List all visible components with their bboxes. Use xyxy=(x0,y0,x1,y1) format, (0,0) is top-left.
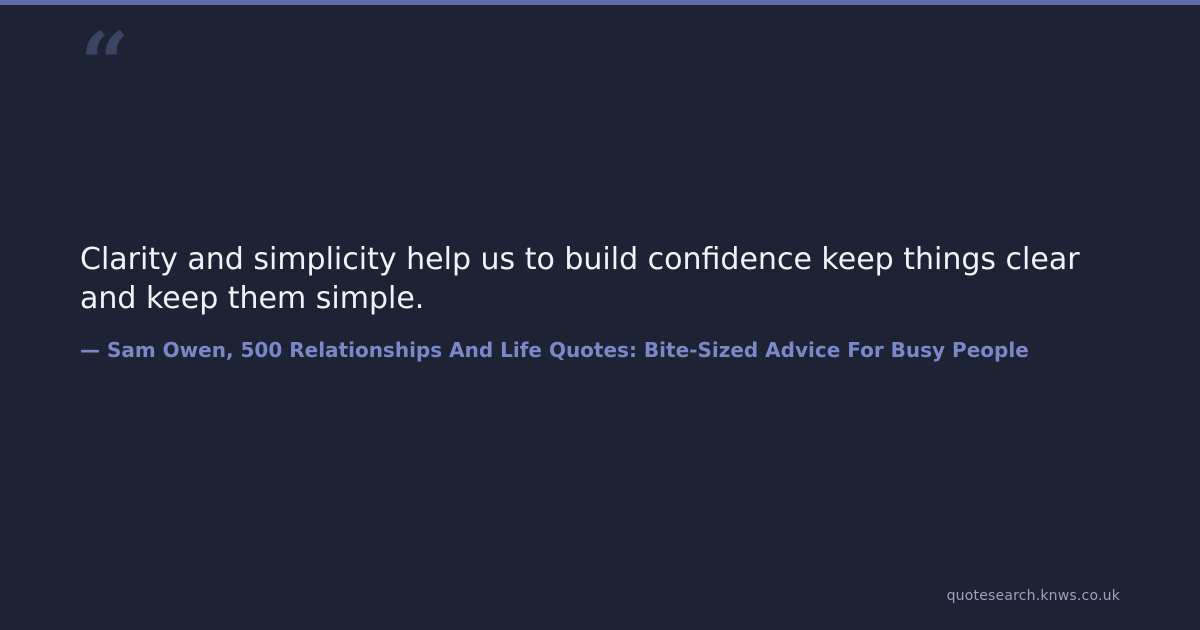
quote-card: “ Clarity and simplicity help us to buil… xyxy=(0,0,1200,630)
top-accent-bar xyxy=(0,0,1200,5)
quotation-mark-icon: “ xyxy=(80,22,127,108)
attribution-dash: — xyxy=(80,338,100,362)
quote-text: Clarity and simplicity help us to build … xyxy=(80,240,1090,318)
source-watermark: quotesearch.knws.co.uk xyxy=(947,588,1120,604)
attribution-text: Sam Owen, 500 Relationships And Life Quo… xyxy=(107,338,1029,362)
quote-attribution: — Sam Owen, 500 Relationships And Life Q… xyxy=(80,338,1200,362)
